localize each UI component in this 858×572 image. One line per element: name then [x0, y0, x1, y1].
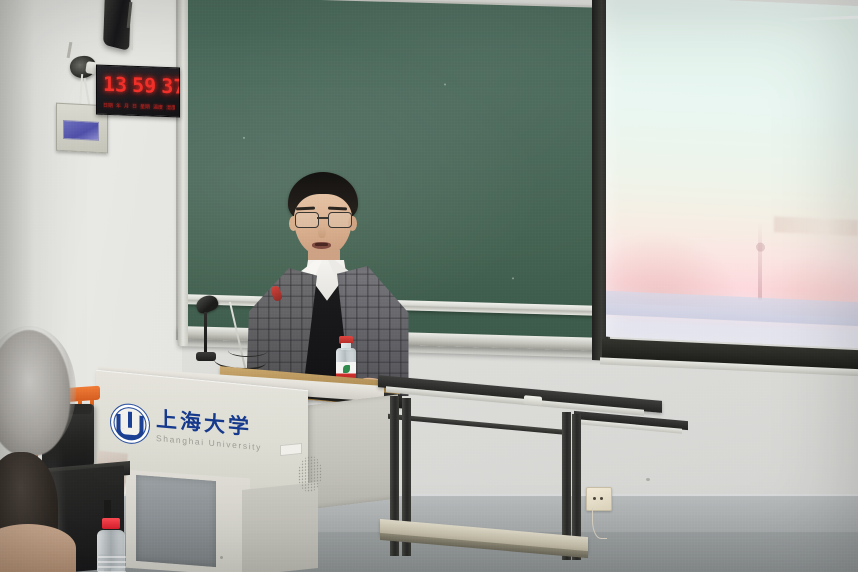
metal-rail-table	[378, 384, 678, 572]
speaker-nose	[318, 226, 326, 238]
screen-tower-sphere	[756, 242, 765, 251]
glasses-bridge	[317, 217, 328, 219]
screen-tower-silhouette	[758, 222, 762, 300]
clock-minutes: 59	[132, 75, 156, 96]
glasses-lens-left	[295, 212, 319, 228]
lectern-screw	[220, 556, 223, 559]
gooseneck-microphone-stem	[204, 312, 207, 356]
led-wall-clock: 13 59 37 日期 年 月 日 星期 温度 湿度	[96, 65, 180, 118]
clock-digits: 13 59 37	[103, 72, 175, 99]
shu-seal-arc	[117, 427, 143, 440]
clock-hours: 13	[103, 74, 127, 95]
screen-faint-marks	[774, 216, 858, 236]
lectern: 上海大学 Shanghai University	[92, 358, 392, 572]
clock-seconds: 37	[161, 76, 180, 97]
foreground-bottle-body	[97, 530, 125, 572]
outlet-socket-left	[593, 497, 596, 500]
speaker-mouth-inner	[315, 243, 328, 246]
water-bottle-foreground	[96, 518, 126, 572]
chalkboard-left-post	[178, 0, 188, 346]
lecture-hall-photo: 13 59 37 日期 年 月 日 星期 温度 湿度	[0, 0, 858, 572]
outlet-hanging-wire	[592, 508, 607, 539]
foreground-bottle-ribs	[98, 554, 126, 572]
lectern-dark-panel	[136, 475, 216, 567]
projection-screen	[592, 0, 858, 372]
lectern-column-side	[242, 482, 318, 572]
podium-wire	[228, 344, 268, 357]
glasses-lens-right	[328, 212, 352, 228]
shanghai-university-logo: 上海大学 Shanghai University	[110, 387, 270, 471]
projection-screen-surface	[606, 0, 858, 349]
shu-wordmark: 上海大学 Shanghai University	[156, 409, 262, 452]
lectern-asset-label	[280, 443, 302, 456]
glasses-icon	[294, 212, 352, 227]
clock-sub-row: 日期 年 月 日 星期 温度 湿度	[103, 101, 175, 113]
screen-light-streak	[786, 15, 858, 22]
foreground-bottle-cap	[102, 518, 120, 529]
projector-cord	[131, 16, 133, 50]
outlet-socket-right	[600, 497, 603, 500]
wall-control-box-panel	[63, 120, 99, 141]
rail-table-crossbar	[388, 414, 570, 436]
shu-seal-icon	[110, 402, 150, 445]
wall-blemish	[646, 478, 650, 481]
rail-table-connector	[524, 395, 542, 406]
